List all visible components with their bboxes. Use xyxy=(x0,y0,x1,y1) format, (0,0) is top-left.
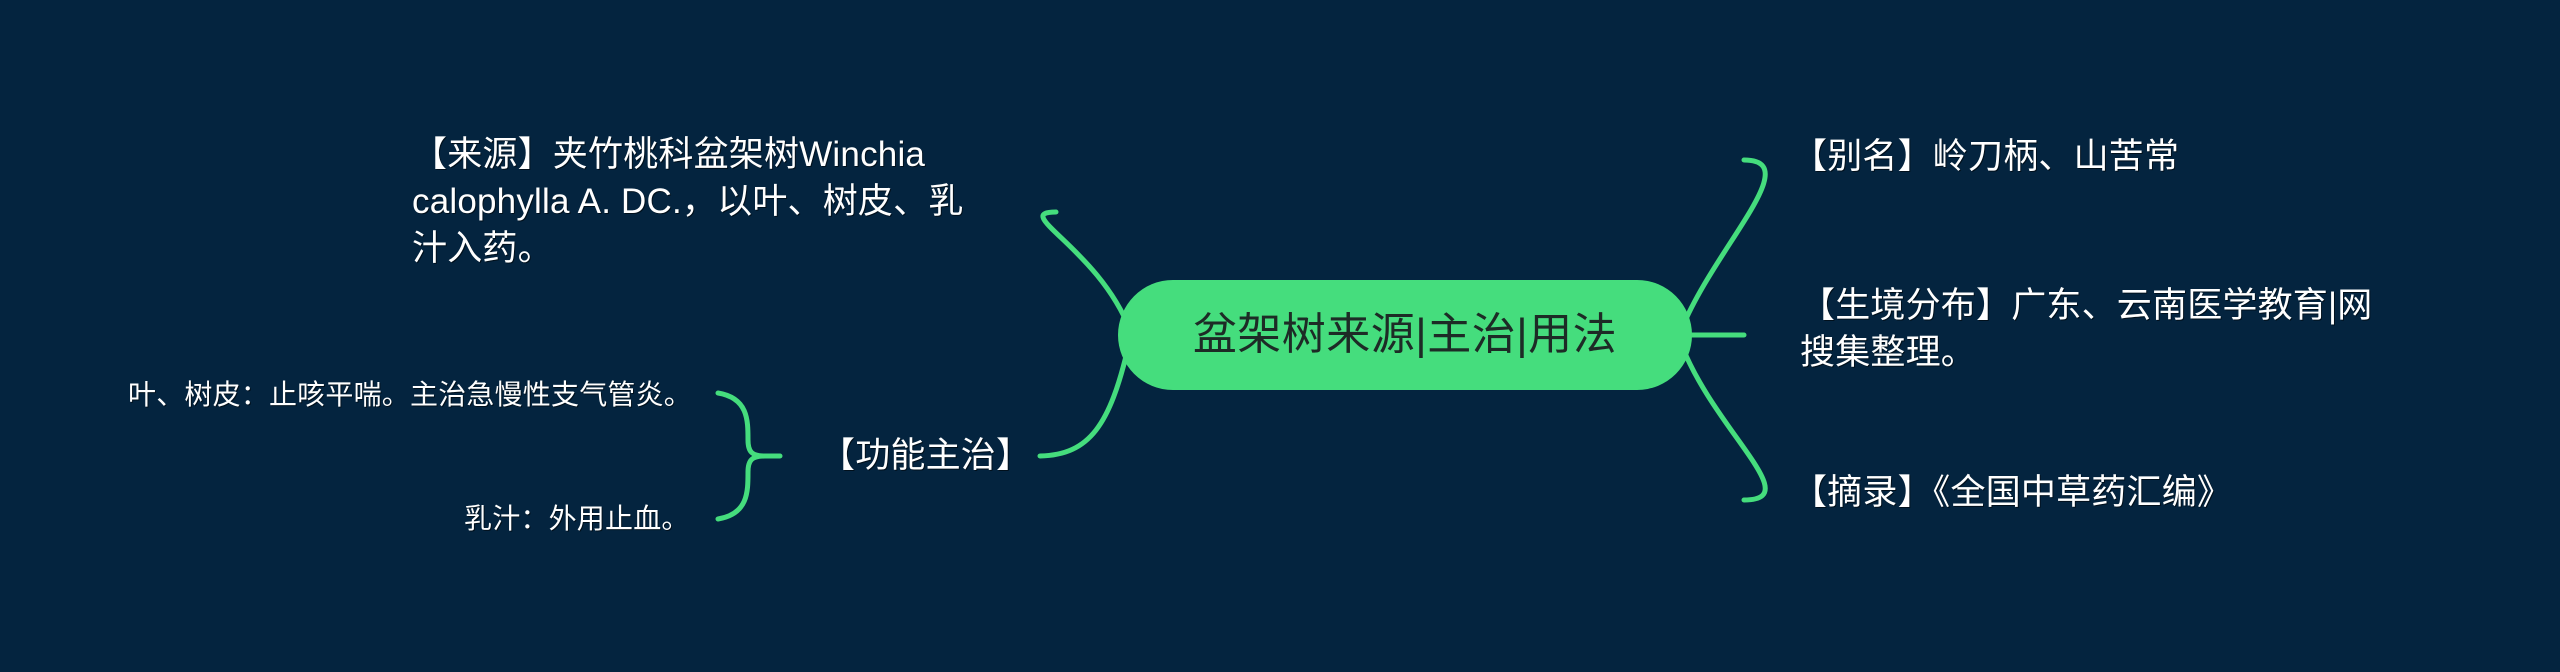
root-node[interactable]: 盆架树来源|主治|用法 xyxy=(1118,280,1692,390)
branch-function-child-leaf-bark[interactable]: 叶、树皮：止咳平喘。主治急慢性支气管炎。 xyxy=(128,376,708,414)
branch-alias[interactable]: 【别名】岭刀柄、山苦常 xyxy=(1792,134,2312,181)
branch-habitat[interactable]: 【生境分布】广东、云南医学教育|网搜集整理。 xyxy=(1800,283,2400,377)
branch-function-child-latex[interactable]: 乳汁：外用止血。 xyxy=(464,500,764,538)
edge-root-source xyxy=(1056,212,1125,322)
branch-excerpt[interactable]: 【摘录】《全国中草药汇编》 xyxy=(1792,470,2352,517)
edge-root-to-source xyxy=(1030,210,1122,318)
edge-source xyxy=(1043,212,1130,330)
branch-function[interactable]: 【功能主治】 xyxy=(820,433,1100,480)
edge-alias-curve xyxy=(1682,160,1765,328)
edge-alias xyxy=(1684,158,1764,330)
branch-source[interactable]: 【来源】夹竹桃科盆架树Winchia calophylla A. DC.，以叶、… xyxy=(412,132,972,273)
mindmap-canvas: 盆架树来源|主治|用法 【来源】夹竹桃科盆架树Winchia calophyll… xyxy=(0,0,2560,672)
root-node-label: 盆架树来源|主治|用法 xyxy=(1193,313,1617,357)
edge-root-source-curve xyxy=(1054,212,1128,325)
edge-excerpt xyxy=(1682,346,1765,500)
